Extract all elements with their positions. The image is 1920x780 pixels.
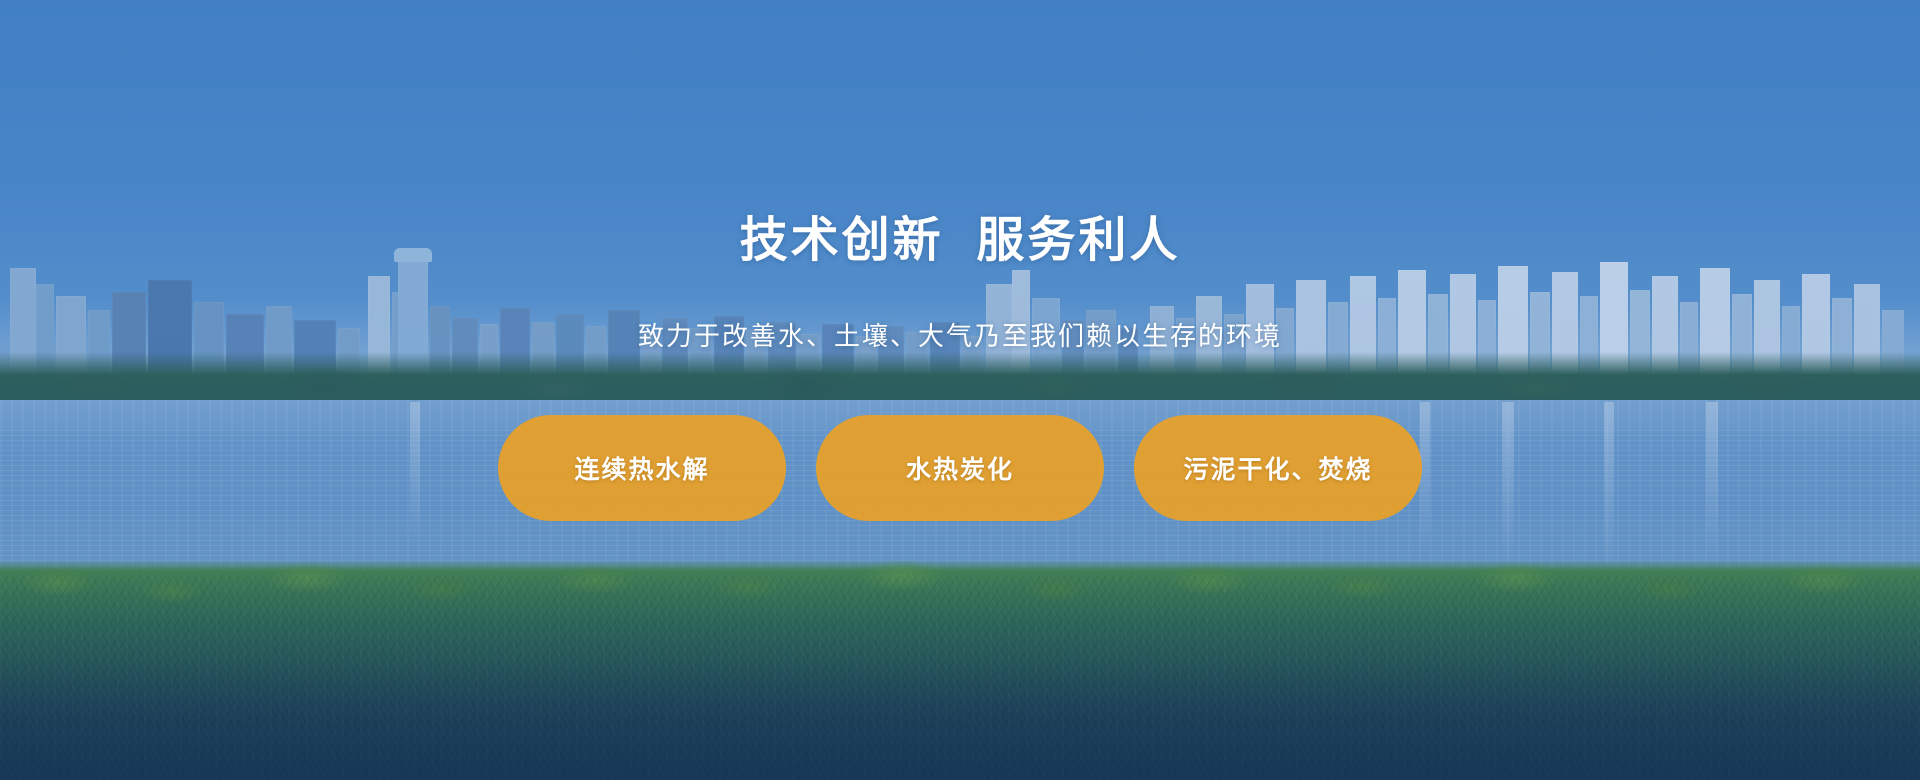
hero-content: 技术创新 服务利人 致力于改善水、土壤、大气乃至我们赖以生存的环境 连续热水解 … — [0, 0, 1920, 780]
hero-banner: 技术创新 服务利人 致力于改善水、土壤、大气乃至我们赖以生存的环境 连续热水解 … — [0, 0, 1920, 780]
hero-button-row: 连续热水解 水热炭化 污泥干化、焚烧 — [498, 415, 1422, 521]
hero-button-sludge-drying-incineration[interactable]: 污泥干化、焚烧 — [1134, 415, 1422, 521]
hero-headline: 技术创新 服务利人 — [740, 212, 1181, 270]
hero-button-continuous-thermal-hydrolysis[interactable]: 连续热水解 — [498, 415, 786, 521]
hero-button-hydrothermal-carbonization[interactable]: 水热炭化 — [816, 415, 1104, 521]
hero-subheadline: 致力于改善水、土壤、大气乃至我们赖以生存的环境 — [638, 316, 1282, 353]
